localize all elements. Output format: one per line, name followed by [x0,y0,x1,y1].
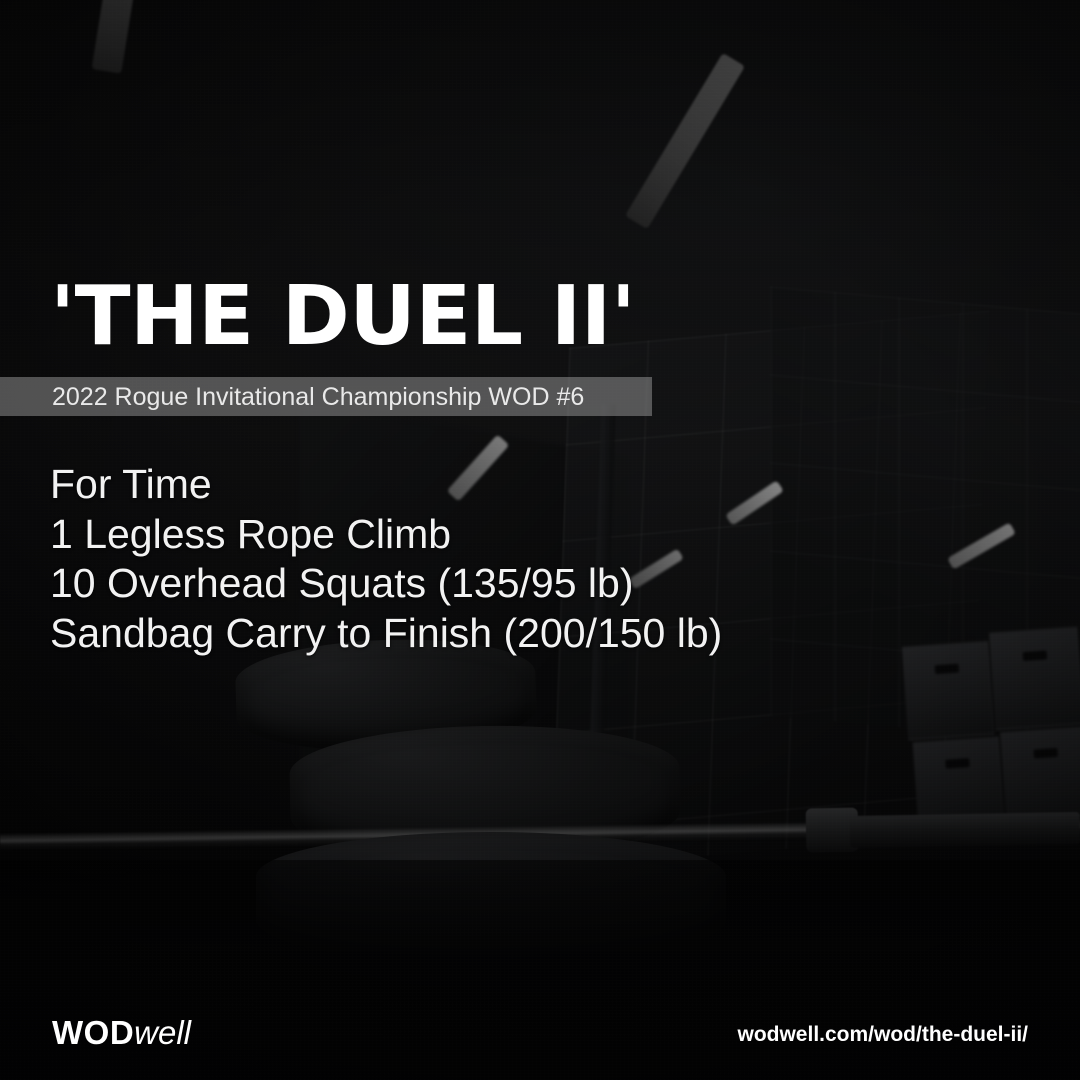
workout-line: Sandbag Carry to Finish (200/150 lb) [50,609,722,659]
workout-line: For Time [50,460,722,510]
card-content: 'THE DUEL II' 2022 Rogue Invitational Ch… [0,0,1080,1080]
wod-subtitle: 2022 Rogue Invitational Championship WOD… [52,380,584,414]
wod-url[interactable]: wodwell.com/wod/the-duel-ii/ [737,1022,1028,1048]
logo-well-text: well [134,1014,191,1051]
workout-line: 1 Legless Rope Climb [50,510,722,560]
logo-wod-text: WOD [52,1014,134,1051]
workout-line: 10 Overhead Squats (135/95 lb) [50,559,722,609]
workout-description: For Time 1 Legless Rope Climb 10 Overhea… [50,460,722,658]
wod-card: 'THE DUEL II' 2022 Rogue Invitational Ch… [0,0,1080,1080]
wod-title: 'THE DUEL II' [50,276,635,358]
wodwell-logo[interactable]: WODwell [52,1014,191,1052]
